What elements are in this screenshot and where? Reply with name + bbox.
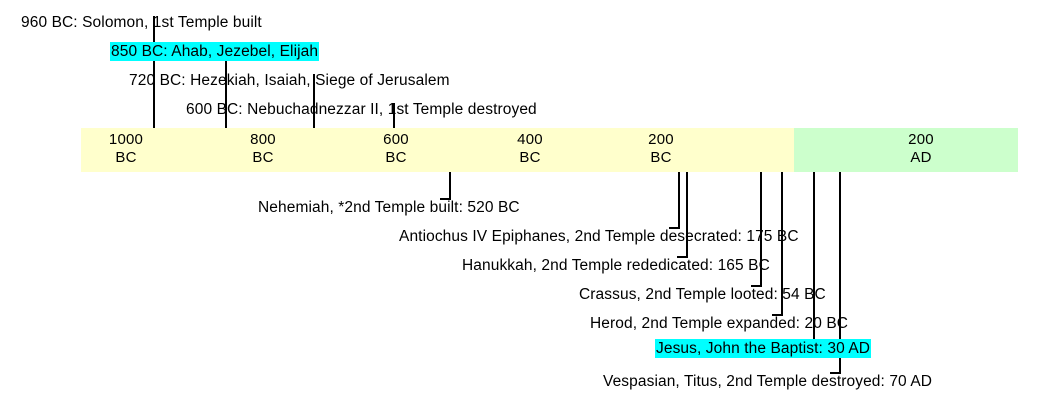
- event-text-nebuchadnezzar: 600 BC: Nebuchadnezzar II, 1st Temple de…: [185, 100, 538, 119]
- timeline-diagram: 1000 BC 800 BC 600 BC 400 BC 200 BC 200 …: [0, 0, 1052, 409]
- event-text-solomon: 960 BC: Solomon, 1st Temple built: [20, 13, 263, 32]
- axis-tick-label-200bc: 200 BC: [616, 131, 706, 167]
- event-label-herod: Herod, 2nd Temple expanded: 20 BC: [589, 315, 849, 333]
- event-text-vespasian: Vespasian, Titus, 2nd Temple destroyed: …: [602, 372, 933, 391]
- event-label-vespasian: Vespasian, Titus, 2nd Temple destroyed: …: [602, 373, 933, 391]
- axis-tick-label-400bc: 400 BC: [485, 131, 575, 167]
- axis-tick-label-600bc: 600 BC: [351, 131, 441, 167]
- event-text-antiochus: Antiochus IV Epiphanes, 2nd Temple desec…: [398, 227, 800, 246]
- event-label-jesus: Jesus, John the Baptist: 30 AD: [655, 340, 871, 358]
- event-label-solomon: 960 BC: Solomon, 1st Temple built: [20, 14, 263, 32]
- event-text-crassus: Crassus, 2nd Temple looted: 54 BC: [578, 285, 827, 304]
- axis-tick-label-1000bc: 1000 BC: [81, 131, 171, 167]
- event-text-nehemiah: Nehemiah, *2nd Temple built: 520 BC: [257, 198, 521, 217]
- event-label-crassus: Crassus, 2nd Temple looted: 54 BC: [578, 286, 827, 304]
- connector-line-antiochus: [678, 172, 680, 229]
- event-text-hezekiah: 720 BC: Hezekiah, Isaiah, Siege of Jerus…: [128, 71, 451, 90]
- connector-line-nehemiah: [449, 172, 451, 200]
- event-text-ahab: 850 BC: Ahab, Jezebel, Elijah: [110, 42, 319, 61]
- event-label-nebuchadnezzar: 600 BC: Nebuchadnezzar II, 1st Temple de…: [185, 101, 538, 119]
- event-label-ahab: 850 BC: Ahab, Jezebel, Elijah: [110, 43, 319, 61]
- axis-tick-label-200ad: 200 AD: [876, 131, 966, 167]
- event-label-hezekiah: 720 BC: Hezekiah, Isaiah, Siege of Jerus…: [128, 72, 451, 90]
- event-label-hanukkah: Hanukkah, 2nd Temple rededicated: 165 BC: [461, 257, 771, 275]
- event-label-antiochus: Antiochus IV Epiphanes, 2nd Temple desec…: [398, 228, 800, 246]
- event-text-herod: Herod, 2nd Temple expanded: 20 BC: [589, 314, 849, 333]
- event-text-jesus: Jesus, John the Baptist: 30 AD: [655, 339, 871, 358]
- event-label-nehemiah: Nehemiah, *2nd Temple built: 520 BC: [257, 199, 521, 217]
- event-text-hanukkah: Hanukkah, 2nd Temple rededicated: 165 BC: [461, 256, 771, 275]
- axis-tick-label-800bc: 800 BC: [218, 131, 308, 167]
